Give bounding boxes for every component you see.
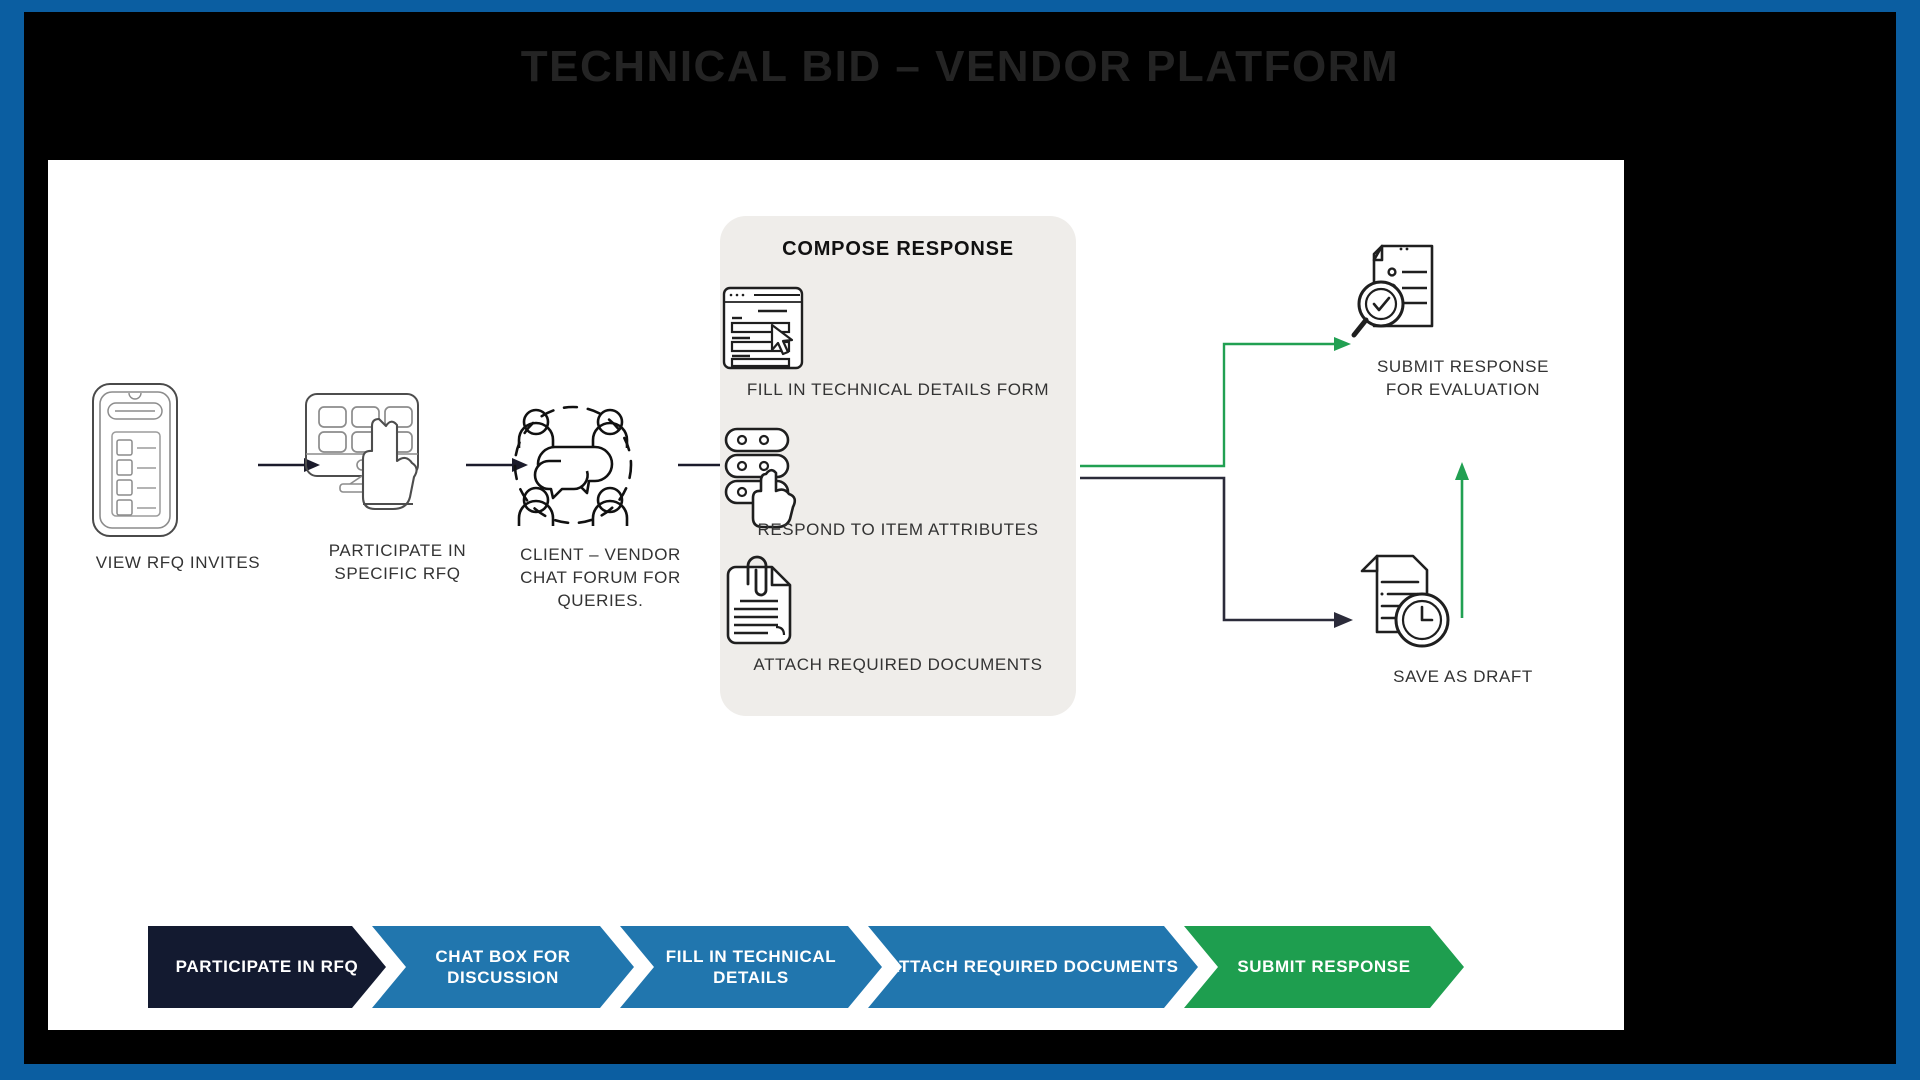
slide-root: TECHNICAL BID – VENDOR PLATFORM <box>0 0 1920 1080</box>
slide-background: TECHNICAL BID – VENDOR PLATFORM <box>24 12 1896 1064</box>
compose-item-label: FILL IN TECHNICAL DETAILS FORM <box>720 380 1076 400</box>
compose-item-label: ATTACH REQUIRED DOCUMENTS <box>720 655 1076 675</box>
document-paperclip-icon <box>720 551 1076 647</box>
process-step-chat-box-for-discussion[interactable]: CHAT BOX FOR DISCUSSION <box>372 926 634 1008</box>
flow-node-label: PARTICIPATE IN SPECIFIC RFQ <box>300 540 495 586</box>
flow-node-label: CLIENT – VENDOR CHAT FORUM FOR QUERIES. <box>503 544 698 613</box>
database-hand-icon <box>720 424 1076 512</box>
document-magnifier-check-icon <box>1348 240 1578 344</box>
diagram-canvas: VIEW RFQ INVITES <box>48 160 1624 1030</box>
outcome-node-submit-response-for-evaluation[interactable]: SUBMIT RESPONSE FOR EVALUATION <box>1348 240 1578 402</box>
slide-title-bar: TECHNICAL BID – VENDOR PLATFORM <box>24 42 1896 92</box>
form-window-cursor-icon <box>720 284 1076 372</box>
flow-node-view-rfq-invites[interactable]: VIEW RFQ INVITES <box>88 380 268 575</box>
flow-node-client-vendor-chat[interactable]: CLIENT – VENDOR CHAT FORUM FOR QUERIES. <box>503 398 698 613</box>
branch-connectors <box>1078 320 1378 820</box>
compose-item-attach-required-documents[interactable]: ATTACH REQUIRED DOCUMENTS <box>720 551 1076 675</box>
compose-item-respond-item-attributes[interactable]: RESPOND TO ITEM ATTRIBUTES <box>720 424 1076 540</box>
process-step-fill-in-technical-details[interactable]: FILL IN TECHNICAL DETAILS <box>620 926 882 1008</box>
process-step-label: PARTICIPATE IN RFQ <box>176 956 359 977</box>
process-chevron-bar: PARTICIPATE IN RFQ CHAT BOX FOR DISCUSSI… <box>148 926 1528 1008</box>
document-clock-icon <box>1348 550 1578 654</box>
process-step-participate-in-rfq[interactable]: PARTICIPATE IN RFQ <box>148 926 386 1008</box>
outcome-node-label: SAVE AS DRAFT <box>1348 666 1578 689</box>
compose-item-fill-technical-details-form[interactable]: FILL IN TECHNICAL DETAILS FORM <box>720 284 1076 400</box>
process-step-label: SUBMIT RESPONSE <box>1237 956 1410 977</box>
mobile-checklist-icon <box>88 380 268 540</box>
page-title: TECHNICAL BID – VENDOR PLATFORM <box>521 42 1399 91</box>
compose-item-label: RESPOND TO ITEM ATTRIBUTES <box>720 520 1076 540</box>
process-step-attach-required-documents[interactable]: ATTACH REQUIRED DOCUMENTS <box>868 926 1198 1008</box>
flow-node-label: VIEW RFQ INVITES <box>88 552 268 575</box>
group-chat-icon <box>503 398 698 532</box>
outcome-node-save-as-draft[interactable]: SAVE AS DRAFT <box>1348 550 1578 689</box>
process-step-label: ATTACH REQUIRED DOCUMENTS <box>887 956 1178 977</box>
process-step-submit-response[interactable]: SUBMIT RESPONSE <box>1184 926 1464 1008</box>
compose-response-panel: COMPOSE RESPONSE <box>720 216 1076 716</box>
compose-response-title: COMPOSE RESPONSE <box>720 238 1076 261</box>
process-step-label: FILL IN TECHNICAL DETAILS <box>666 946 836 989</box>
outcome-node-label: SUBMIT RESPONSE FOR EVALUATION <box>1348 356 1578 402</box>
process-step-label: CHAT BOX FOR DISCUSSION <box>435 946 570 989</box>
flow-node-participate-specific-rfq[interactable]: PARTICIPATE IN SPECIFIC RFQ <box>300 388 495 586</box>
